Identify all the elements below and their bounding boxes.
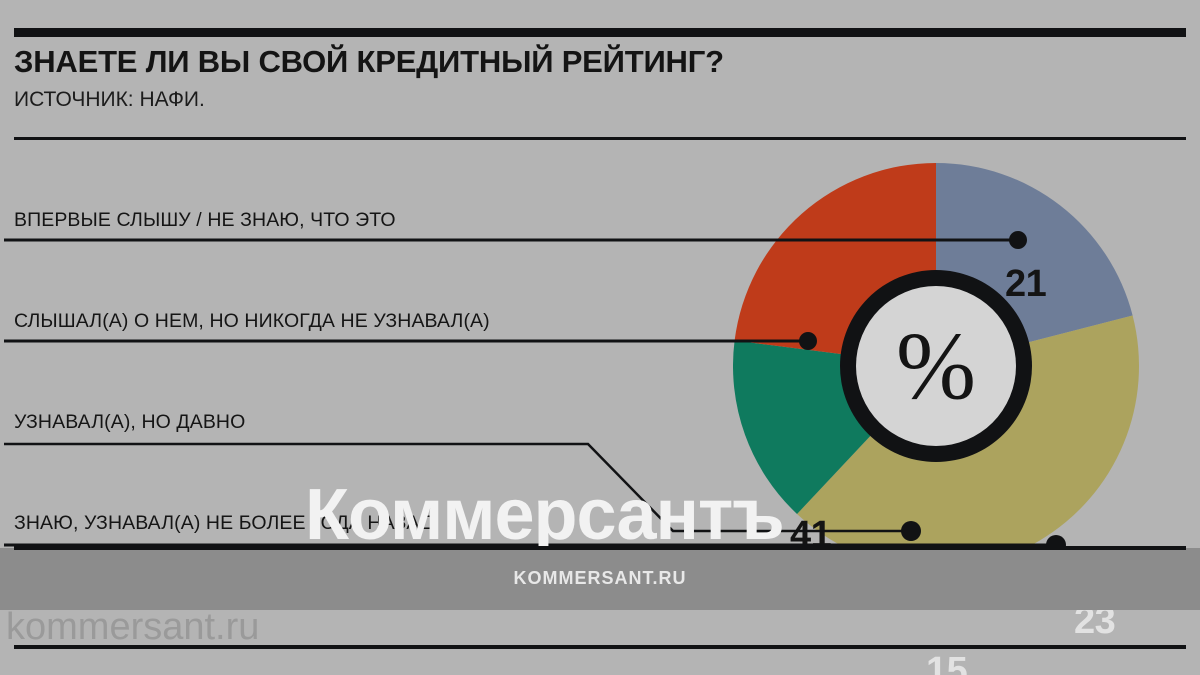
watermark-site-lower: kommersant.ru [6,606,259,649]
top-divider [14,28,1186,37]
callout-label-2: УЗНАВАЛ(А), НО ДАВНО [14,411,245,434]
footer-divider [14,546,1186,550]
infographic-canvas: ЗНАЕТЕ ЛИ ВЫ СВОЙ КРЕДИТНЫЙ РЕЙТИНГ? ИСТ… [0,0,1200,675]
callout-label-1: СЛЫШАЛ(А) О НЕМ, НО НИКОГДА НЕ УЗНАВАЛ(А… [14,310,490,333]
slice-value-15: 15 [926,650,967,675]
source-note: ИСТОЧНИК: НАФИ. [14,88,205,112]
watermark-site-upper: KOMMERSANT.RU [0,568,1200,589]
header-divider [14,137,1186,140]
bottom-divider [14,645,1186,649]
page-title: ЗНАЕТЕ ЛИ ВЫ СВОЙ КРЕДИТНЫЙ РЕЙТИНГ? [14,44,1014,80]
percent-symbol: % [896,318,976,414]
pie-chart: % 21 41 15 23 [733,163,1139,569]
callout-label-0: ВПЕРВЫЕ СЛЫШУ / НЕ ЗНАЮ, ЧТО ЭТО [14,209,396,232]
watermark-brand: Коммерсантъ [305,474,784,556]
slice-value-21: 21 [1005,263,1046,306]
